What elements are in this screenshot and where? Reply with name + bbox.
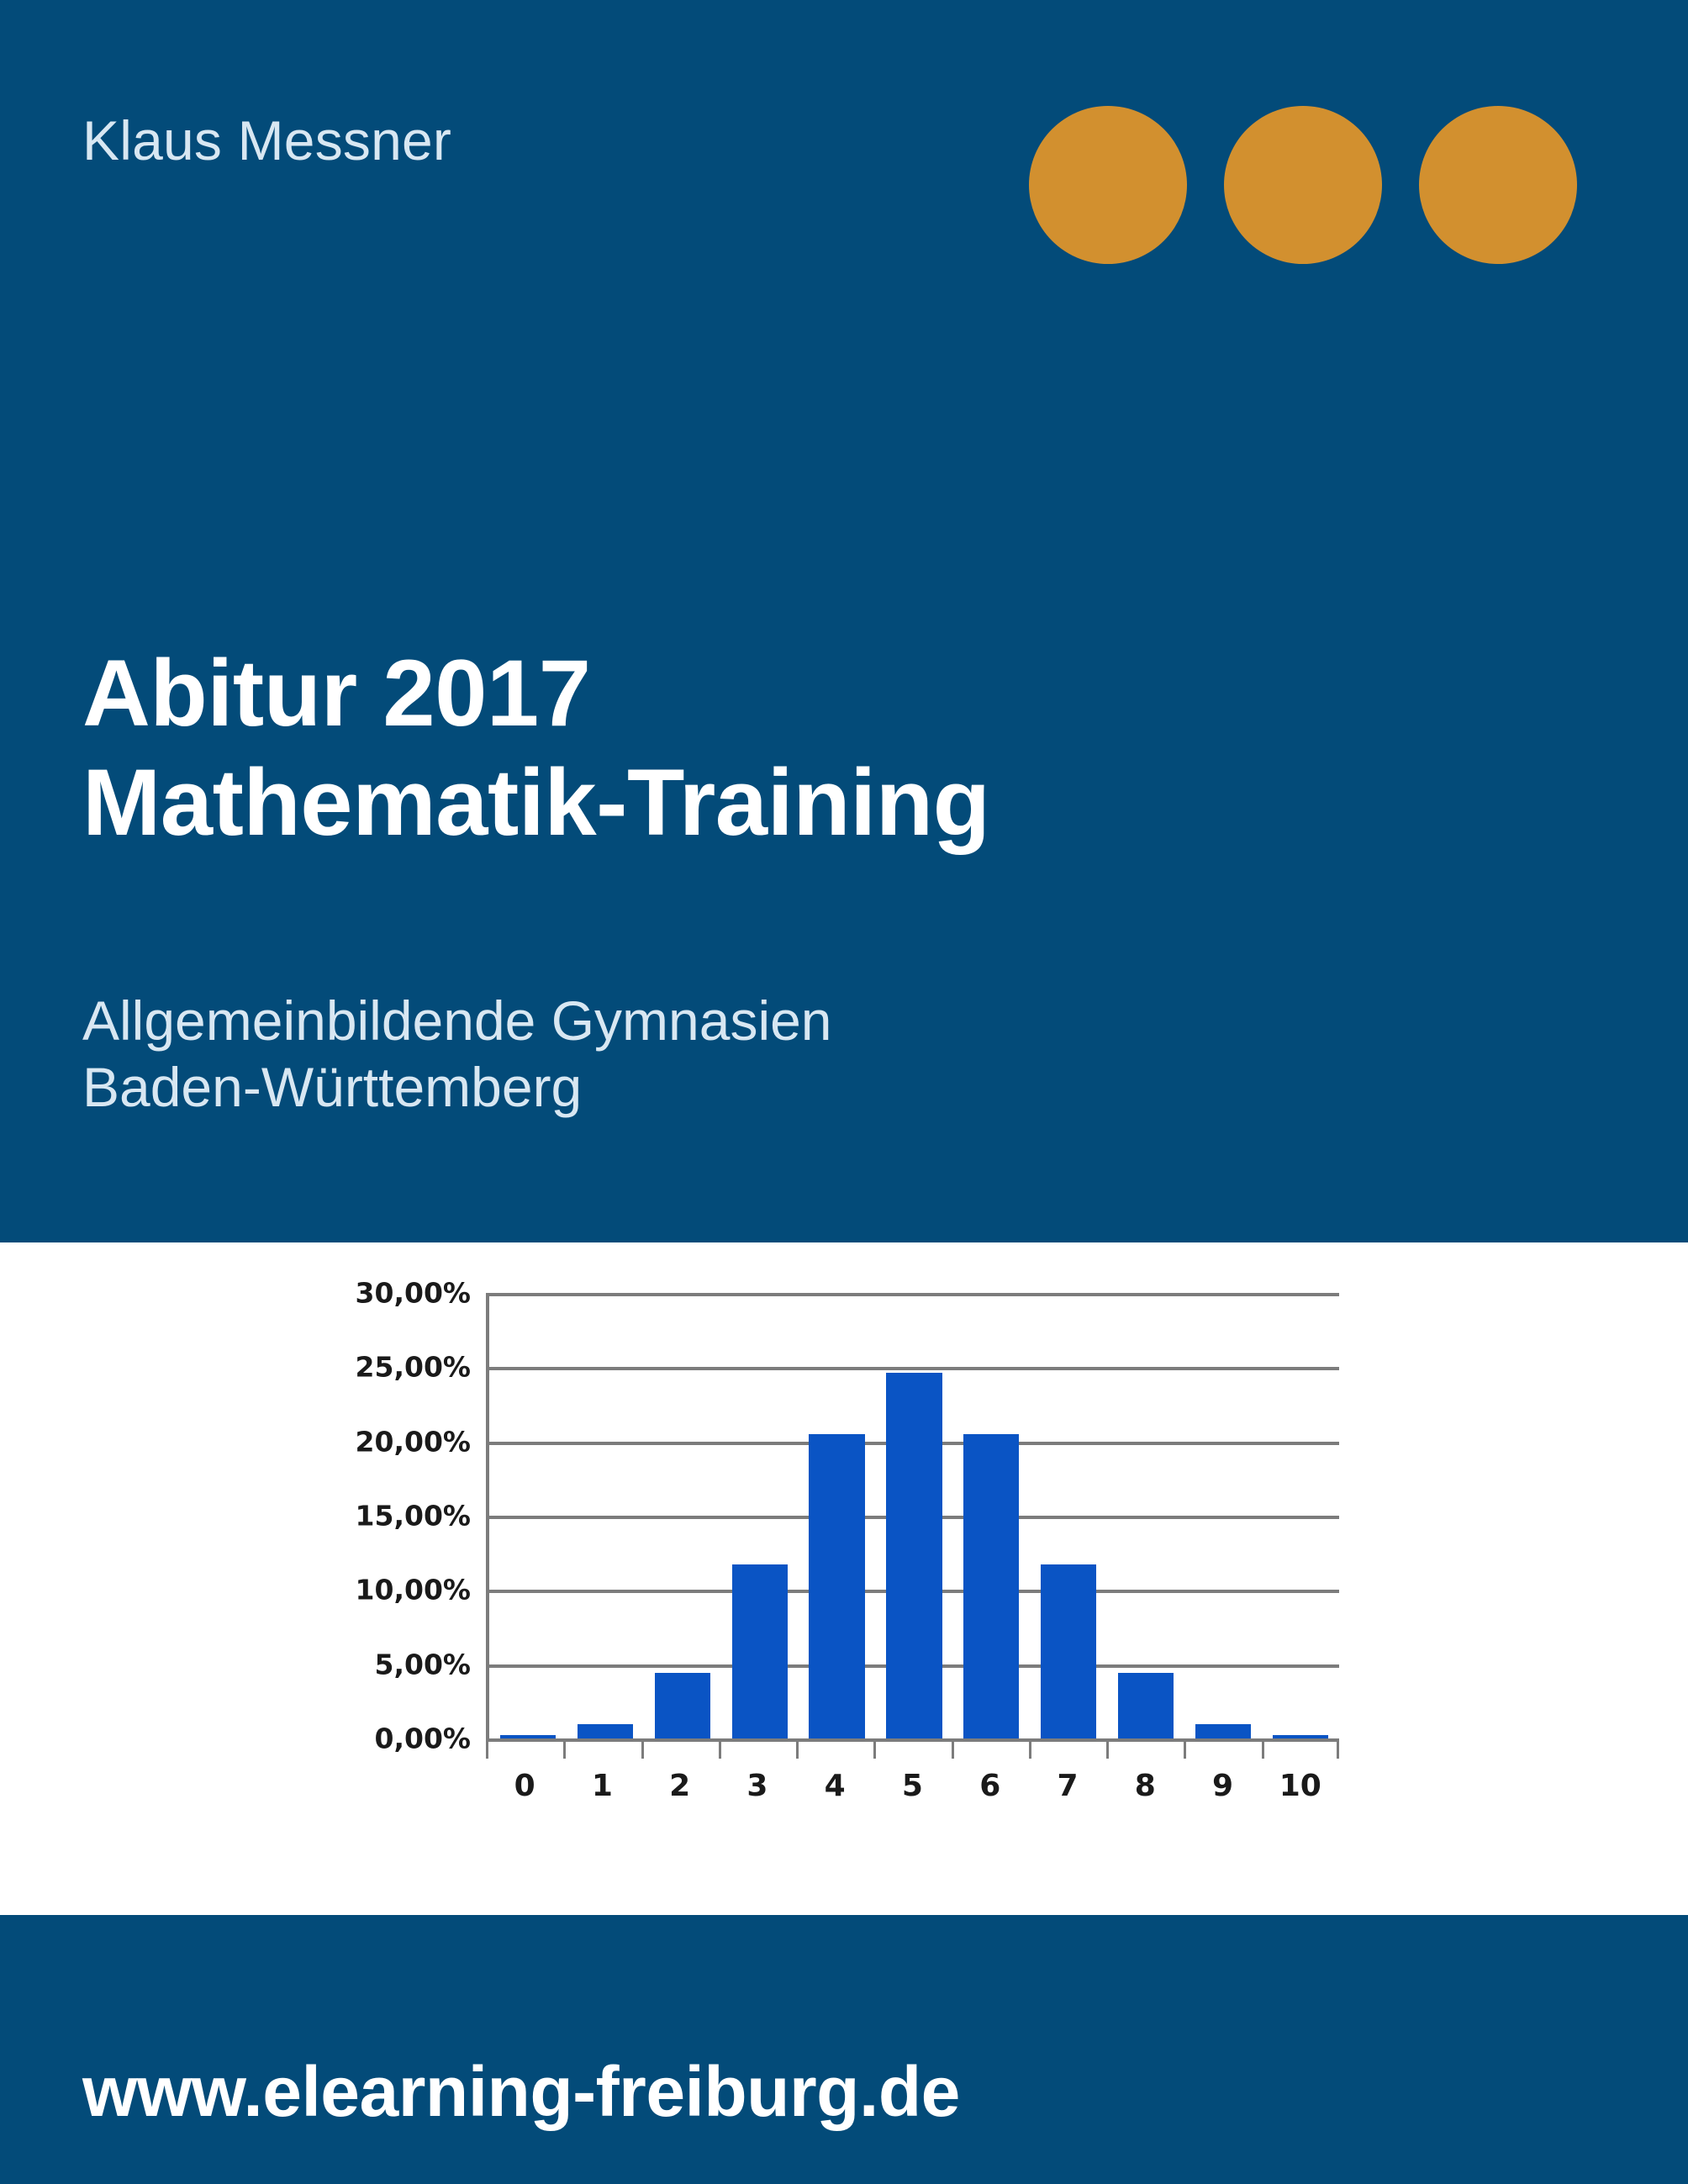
- chart-plot-area: [486, 1293, 1339, 1738]
- x-axis-tick-label: 8: [1106, 1769, 1184, 1803]
- book-cover: Klaus Messner Abitur 2017 Mathematik-Tra…: [0, 0, 1688, 2184]
- cover-chart-band: 0,00%5,00%10,00%15,00%20,00%25,00%30,00%…: [0, 1242, 1688, 1915]
- x-axis-tick-label: 7: [1029, 1769, 1106, 1803]
- subtitle-line-2: Baden-Württemberg: [82, 1054, 1427, 1121]
- x-axis-tick: [873, 1742, 951, 1759]
- x-axis-tick-label: 10: [1262, 1769, 1339, 1803]
- x-axis-tick-label: 9: [1184, 1769, 1261, 1803]
- y-axis-tick-label: 0,00%: [375, 1722, 472, 1755]
- y-axis-tick-label: 5,00%: [375, 1648, 472, 1680]
- circle-icon: [1419, 106, 1577, 264]
- x-axis-tick-label: 2: [641, 1769, 719, 1803]
- x-axis-tick: [641, 1742, 719, 1759]
- x-axis-tick: [719, 1742, 796, 1759]
- x-axis-tick: [1184, 1742, 1261, 1759]
- bar: [655, 1673, 710, 1738]
- subtitle-line-1: Allgemeinbildende Gymnasien: [82, 988, 1427, 1054]
- decorative-dots: [1029, 106, 1577, 264]
- website-url: www.elearning-freiburg.de: [82, 2051, 960, 2133]
- circle-icon: [1224, 106, 1382, 264]
- bar-slot: [567, 1293, 644, 1738]
- bar-slot: [721, 1293, 799, 1738]
- x-axis-tick-label: 6: [952, 1769, 1029, 1803]
- bar-slot: [799, 1293, 876, 1738]
- x-axis-tick-label: 3: [719, 1769, 796, 1803]
- cover-bottom-panel: www.elearning-freiburg.de: [0, 1915, 1688, 2184]
- bar: [1195, 1724, 1251, 1738]
- bar-slot: [1184, 1293, 1262, 1738]
- title-line-1: Abitur 2017: [82, 639, 1427, 748]
- bar-slot: [644, 1293, 721, 1738]
- x-axis-tick: [952, 1742, 1029, 1759]
- author-name: Klaus Messner: [82, 113, 451, 168]
- binomial-distribution-chart: 0,00%5,00%10,00%15,00%20,00%25,00%30,00%…: [318, 1293, 1360, 1865]
- y-axis-tick-label: 20,00%: [356, 1425, 471, 1458]
- x-axis-tick-label: 0: [486, 1769, 563, 1803]
- y-axis-tick-label: 25,00%: [356, 1351, 471, 1384]
- x-axis-labels: 012345678910: [486, 1769, 1339, 1803]
- y-axis-tick-label: 30,00%: [356, 1277, 471, 1310]
- bar-slot: [952, 1293, 1030, 1738]
- bar-slot: [489, 1293, 567, 1738]
- x-axis-tick: [1106, 1742, 1184, 1759]
- bar-slot: [1030, 1293, 1107, 1738]
- x-axis-tick-label: 5: [873, 1769, 951, 1803]
- bar: [578, 1724, 633, 1738]
- bar-slot: [876, 1293, 953, 1738]
- bar: [809, 1434, 864, 1738]
- page-title: Abitur 2017 Mathematik-Training: [82, 639, 1427, 857]
- cover-top-panel: Klaus Messner Abitur 2017 Mathematik-Tra…: [0, 0, 1688, 1242]
- x-axis-tick-label: 4: [796, 1769, 873, 1803]
- bar-series: [489, 1293, 1339, 1738]
- bar: [1118, 1673, 1174, 1738]
- title-line-2: Mathematik-Training: [82, 748, 1427, 857]
- circle-icon: [1029, 106, 1187, 264]
- x-axis-tick: [796, 1742, 873, 1759]
- x-axis-tick: [1029, 1742, 1106, 1759]
- x-axis-tick: [486, 1742, 563, 1759]
- x-axis-tick: [1262, 1742, 1339, 1759]
- bar: [963, 1434, 1019, 1738]
- bar-slot: [1107, 1293, 1184, 1738]
- bar: [1041, 1564, 1096, 1738]
- x-axis-tick-label: 1: [563, 1769, 641, 1803]
- page-subtitle: Allgemeinbildende Gymnasien Baden-Württe…: [82, 988, 1427, 1120]
- y-axis-tick-label: 15,00%: [356, 1500, 471, 1532]
- bar: [886, 1373, 942, 1738]
- x-axis-tick: [563, 1742, 641, 1759]
- y-axis-tick-label: 10,00%: [356, 1574, 471, 1606]
- bar: [732, 1564, 788, 1738]
- y-axis-labels: 0,00%5,00%10,00%15,00%20,00%25,00%30,00%: [318, 1293, 486, 1738]
- x-axis-ticks: [486, 1742, 1339, 1759]
- bar-slot: [1262, 1293, 1339, 1738]
